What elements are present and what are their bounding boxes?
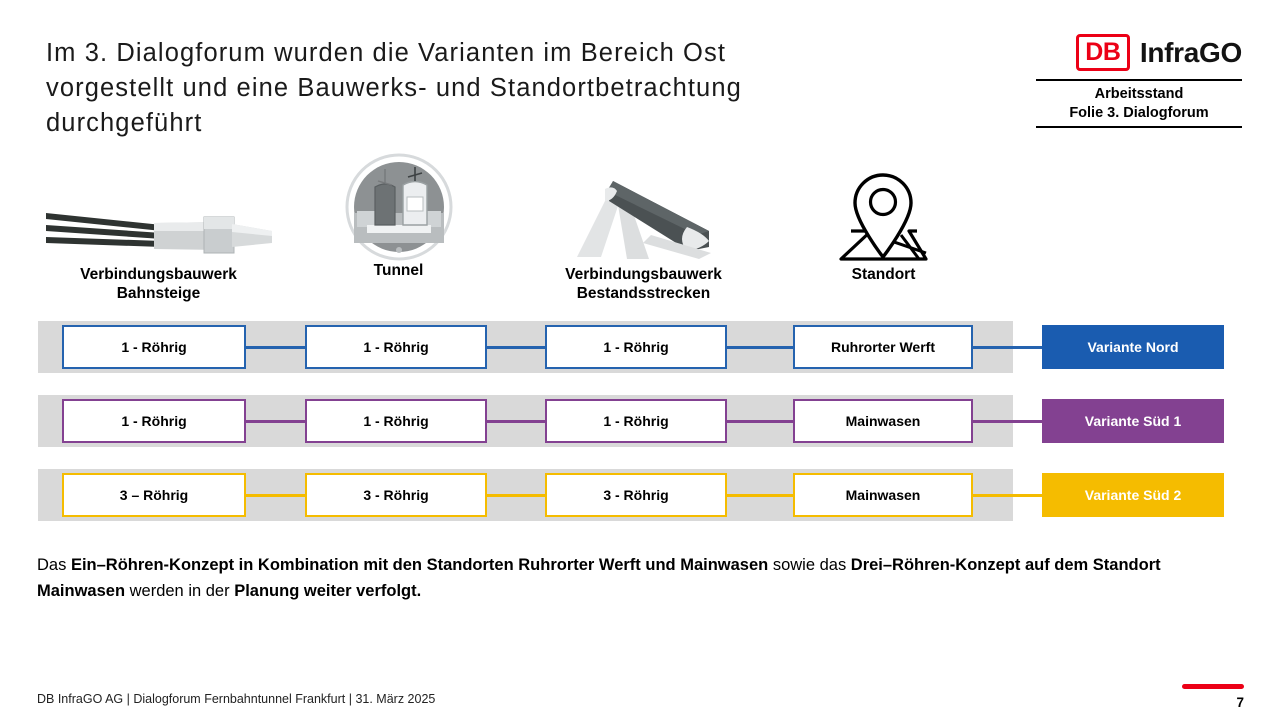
variant-label-sued-2[interactable]: Variante Süd 2	[1042, 473, 1224, 517]
variant-cell-1-1[interactable]: 1 - Röhrig	[62, 325, 246, 369]
connector-1-4	[972, 346, 1043, 349]
logo-row: DB InfraGO	[1036, 34, 1242, 71]
connector-3-4	[972, 494, 1043, 497]
page-title: Im 3. Dialogforum wurden die Varianten i…	[46, 36, 936, 141]
connector-2-2	[486, 420, 546, 423]
db-logo-icon: DB	[1076, 34, 1130, 71]
tunnel-junction-icon	[521, 170, 766, 265]
category-label-bahnsteige: Verbindungsbauwerk Bahnsteige	[36, 265, 281, 303]
db-logo-text: DB	[1085, 40, 1120, 65]
conclusion-part-3: werden in der	[125, 582, 234, 600]
document-status: Arbeitsstand Folie 3. Dialogforum	[1036, 79, 1242, 128]
category-column-bestandsstrecken: Verbindungsbauwerk Bestandsstrecken	[521, 170, 766, 303]
category-column-tunnel: Tunnel	[276, 166, 521, 280]
variant-cell-1-3[interactable]: 1 - Röhrig	[545, 325, 727, 369]
page-marker: 7	[1182, 684, 1244, 710]
variant-cell-2-4[interactable]: Mainwasen	[793, 399, 973, 443]
conclusion-part-2: sowie das	[768, 556, 851, 574]
connector-1-3	[726, 346, 794, 349]
footer-source: DB InfraGO AG | Dialogforum Fernbahntunn…	[37, 692, 435, 706]
status-line-1: Arbeitsstand	[1036, 85, 1242, 104]
conclusion-part-1: Das	[37, 556, 71, 574]
connector-2-3	[726, 420, 794, 423]
variant-cell-2-2[interactable]: 1 - Röhrig	[305, 399, 487, 443]
connector-3-1	[246, 494, 306, 497]
map-pin-icon	[761, 170, 1006, 265]
tube-bundle-icon	[36, 170, 281, 265]
category-header-row: Verbindungsbauwerk Bahnsteige	[36, 170, 1016, 315]
brand-logo-block: DB InfraGO Arbeitsstand Folie 3. Dialogf…	[1036, 34, 1242, 128]
page-rule-divider	[1182, 684, 1244, 689]
category-label-standort: Standort	[761, 265, 1006, 284]
variant-label-nord[interactable]: Variante Nord	[1042, 325, 1224, 369]
category-column-bahnsteige: Verbindungsbauwerk Bahnsteige	[36, 170, 281, 303]
variant-cell-3-3[interactable]: 3 - Röhrig	[545, 473, 727, 517]
category-label-bestandsstrecken: Verbindungsbauwerk Bestandsstrecken	[521, 265, 766, 303]
conclusion-text: Das Ein–Röhren-Konzept in Kombination mi…	[37, 552, 1167, 604]
status-line-2: Folie 3. Dialogforum	[1036, 104, 1242, 123]
variant-cell-1-4[interactable]: Ruhrorter Werft	[793, 325, 973, 369]
tunnel-cross-section-icon	[276, 166, 521, 261]
variant-cell-3-4[interactable]: Mainwasen	[793, 473, 973, 517]
connector-1-1	[246, 346, 306, 349]
category-column-standort: Standort	[761, 170, 1006, 284]
variant-cell-2-3[interactable]: 1 - Röhrig	[545, 399, 727, 443]
infrago-wordmark: InfraGO	[1140, 39, 1242, 67]
variant-cell-2-1[interactable]: 1 - Röhrig	[62, 399, 246, 443]
connector-1-2	[486, 346, 546, 349]
variant-cell-3-2[interactable]: 3 - Röhrig	[305, 473, 487, 517]
variant-cell-1-2[interactable]: 1 - Röhrig	[305, 325, 487, 369]
connector-3-2	[486, 494, 546, 497]
variant-label-sued-1[interactable]: Variante Süd 1	[1042, 399, 1224, 443]
conclusion-bold-1: Ein–Röhren-Konzept in Kombination mit de…	[71, 556, 768, 574]
variant-cell-3-1[interactable]: 3 – Röhrig	[62, 473, 246, 517]
conclusion-bold-3: Planung weiter verfolgt.	[234, 582, 421, 600]
page-number: 7	[1182, 695, 1244, 710]
connector-3-3	[726, 494, 794, 497]
slide-canvas: Im 3. Dialogforum wurden die Varianten i…	[0, 0, 1280, 720]
connector-2-1	[246, 420, 306, 423]
category-label-tunnel: Tunnel	[276, 261, 521, 280]
connector-2-4	[972, 420, 1043, 423]
